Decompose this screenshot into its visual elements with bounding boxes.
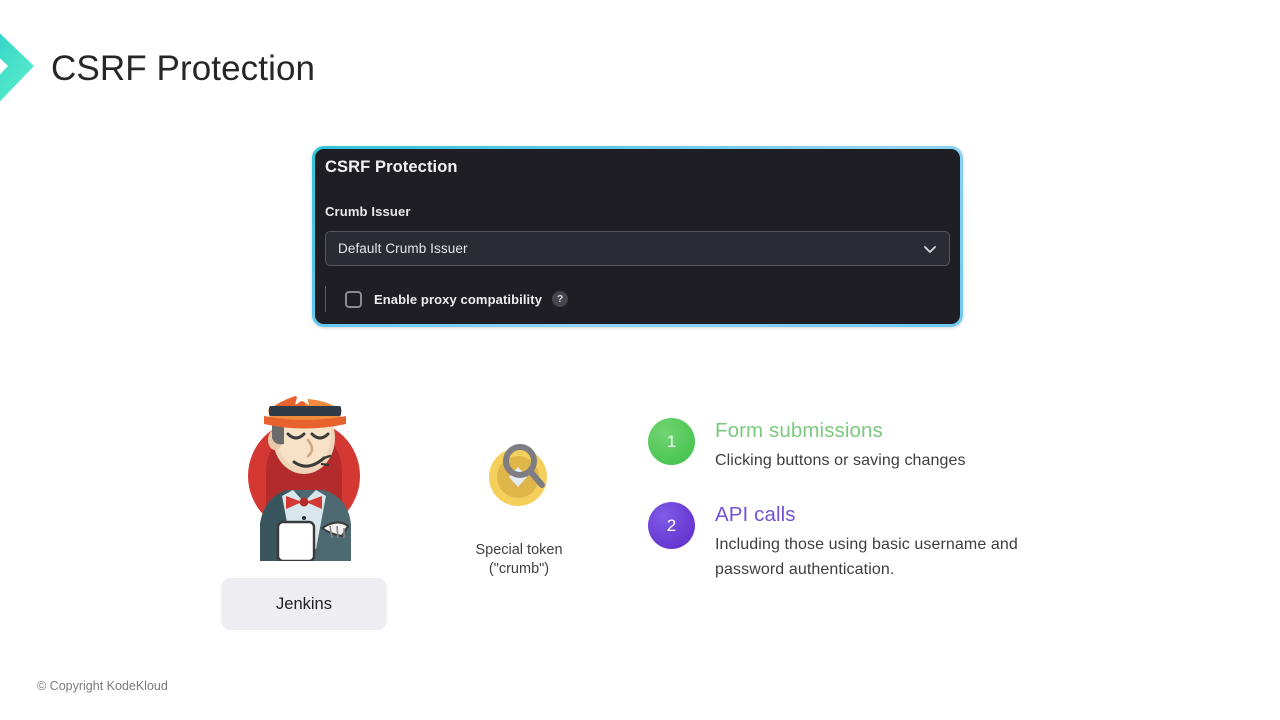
brand-chevron-icon: [0, 16, 44, 120]
section-divider: [325, 286, 326, 312]
enable-proxy-compatibility-checkbox[interactable]: [345, 291, 362, 308]
item-number-badge: 1: [648, 418, 695, 465]
jenkins-label-chip: Jenkins: [221, 578, 387, 630]
token-caption-line1: Special token: [428, 541, 610, 560]
jenkins-label: Jenkins: [276, 595, 332, 614]
item-description: Including those using basic username and…: [715, 532, 1068, 582]
slide-canvas: CSRF Protection CSRF Protection Crumb Is…: [0, 0, 1280, 720]
csrf-settings-panel: CSRF Protection Crumb Issuer Default Cru…: [312, 146, 963, 327]
list-item: 1 Form submissions Clicking buttons or s…: [648, 418, 1068, 473]
list-item: 2 API calls Including those using basic …: [648, 502, 1068, 582]
crumb-issuer-select[interactable]: Default Crumb Issuer: [325, 231, 950, 266]
crumb-issuer-value: Default Crumb Issuer: [338, 232, 468, 265]
jenkins-butler-icon: [238, 376, 371, 561]
enable-proxy-compatibility-label: Enable proxy compatibility: [374, 292, 542, 307]
copyright-footer: © Copyright KodeKloud: [37, 679, 168, 693]
token-caption: Special token ("crumb"): [428, 541, 610, 579]
chevron-down-icon: [922, 241, 938, 257]
item-description: Clicking buttons or saving changes: [715, 448, 1068, 473]
token-caption-line2: ("crumb"): [428, 560, 610, 579]
help-icon[interactable]: ?: [552, 291, 568, 307]
crumb-issuer-label: Crumb Issuer: [325, 204, 411, 219]
item-number-badge: 2: [648, 502, 695, 549]
proxy-compatibility-row: Enable proxy compatibility ?: [325, 285, 568, 313]
item-title: API calls: [715, 502, 1068, 527]
coin-magnifier-icon: [484, 437, 556, 509]
page-title: CSRF Protection: [51, 49, 315, 89]
item-title: Form submissions: [715, 418, 1068, 443]
panel-body: CSRF Protection Crumb Issuer Default Cru…: [315, 149, 960, 324]
panel-title: CSRF Protection: [325, 158, 458, 177]
usage-list: 1 Form submissions Clicking buttons or s…: [648, 418, 1068, 611]
